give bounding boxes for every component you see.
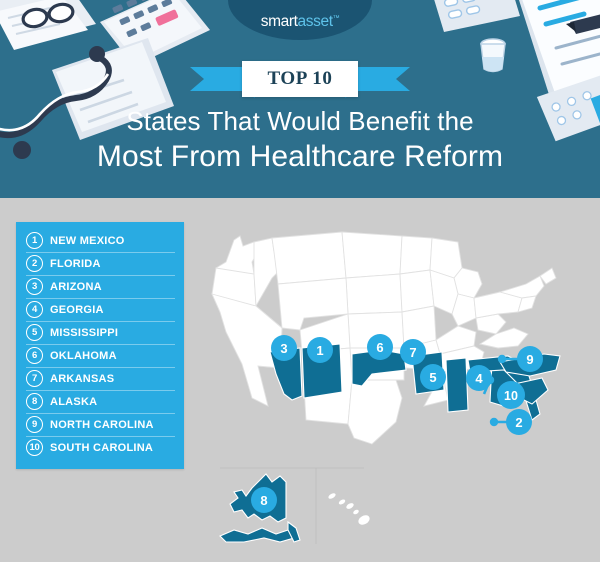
state-texas: [348, 380, 402, 444]
state-minnesota: [400, 236, 432, 274]
map-marker-4[interactable]: 4: [466, 365, 492, 391]
map-marker-label: 8: [260, 493, 267, 508]
rank-badge: 9: [26, 416, 43, 433]
state-north-dakota: [342, 232, 402, 278]
us-map-svg: 3 1 6 7 5: [196, 222, 592, 460]
top-10-ribbon: TOP 10: [190, 61, 410, 97]
map-marker-label: 6: [376, 340, 383, 355]
map-marker-label: 1: [316, 343, 323, 358]
rank-badge: 8: [26, 393, 43, 410]
map-marker-label: 9: [526, 352, 533, 367]
ranking-list: 1 NEW MEXICO 2 FLORIDA 3 ARIZONA 4 GEORG…: [16, 222, 184, 469]
list-item[interactable]: 4 GEORGIA: [16, 298, 184, 321]
header-banner: smartasset™ TOP 10 States That Would Ben…: [0, 0, 600, 198]
rank-badge: 5: [26, 324, 43, 341]
map-marker-label: 5: [429, 370, 436, 385]
trademark-icon: ™: [333, 15, 340, 22]
leader-dot-north-carolina: [498, 355, 506, 363]
state-south-dakota: [346, 274, 402, 314]
state-mississippi-highlight: [446, 358, 468, 412]
state-label: NORTH CAROLINA: [50, 419, 154, 431]
ribbon-plate: TOP 10: [242, 61, 358, 97]
map-marker-1[interactable]: 1: [307, 337, 333, 363]
logo-asset-text: asset: [298, 13, 333, 30]
map-marker-3[interactable]: 3: [271, 335, 297, 361]
map-marker-label: 10: [504, 389, 518, 403]
map-marker-5[interactable]: 5: [420, 364, 446, 390]
map-inset-alaska-hawaii: 8: [204, 452, 404, 552]
map-marker-9[interactable]: 9: [517, 346, 543, 372]
list-item[interactable]: 7 ARKANSAS: [16, 367, 184, 390]
us-map: 3 1 6 7 5: [196, 222, 592, 460]
logo-smart-text: smart: [261, 13, 298, 30]
infographic-page: smartasset™ TOP 10 States That Would Ben…: [0, 0, 600, 562]
map-marker-2[interactable]: 2: [506, 409, 532, 435]
title-line-1: States That Would Benefit the: [0, 105, 600, 138]
state-label: FLORIDA: [50, 258, 101, 270]
list-item[interactable]: 5 MISSISSIPPI: [16, 321, 184, 344]
state-label: ARKANSAS: [50, 373, 114, 385]
leader-dot-florida: [490, 418, 498, 426]
title-line-2: Most From Healthcare Reform: [0, 138, 600, 176]
rank-badge: 1: [26, 232, 43, 249]
state-label: MISSISSIPPI: [50, 327, 118, 339]
list-item[interactable]: 8 ALASKA: [16, 390, 184, 413]
state-label: GEORGIA: [50, 304, 104, 316]
state-label: NEW MEXICO: [50, 235, 125, 247]
state-hawaii: [327, 492, 371, 527]
map-marker-10[interactable]: 10: [497, 381, 525, 409]
rank-badge: 6: [26, 347, 43, 364]
inset-svg: 8: [204, 452, 404, 552]
state-label: ARIZONA: [50, 281, 102, 293]
rank-badge: 10: [26, 439, 43, 456]
state-label: ALASKA: [50, 396, 97, 408]
state-label: SOUTH CAROLINA: [50, 442, 153, 454]
map-marker-6[interactable]: 6: [367, 334, 393, 360]
rank-badge: 2: [26, 255, 43, 272]
rank-badge: 3: [26, 278, 43, 295]
page-title: States That Would Benefit the Most From …: [0, 105, 600, 176]
map-marker-label: 4: [475, 371, 483, 386]
medicine-cup-icon: [481, 39, 505, 72]
rank-badge: 7: [26, 370, 43, 387]
ribbon-label: TOP 10: [267, 68, 332, 90]
list-item[interactable]: 9 NORTH CAROLINA: [16, 413, 184, 436]
state-montana: [272, 232, 346, 284]
list-item[interactable]: 2 FLORIDA: [16, 252, 184, 275]
list-item[interactable]: 10 SOUTH CAROLINA: [16, 436, 184, 459]
list-item[interactable]: 6 OKLAHOMA: [16, 344, 184, 367]
map-marker-7[interactable]: 7: [400, 339, 426, 365]
rank-badge: 4: [26, 301, 43, 318]
map-marker-label: 2: [515, 415, 522, 430]
map-marker-8[interactable]: 8: [251, 487, 277, 513]
map-marker-label: 7: [409, 345, 416, 360]
state-iowa: [400, 270, 434, 312]
map-marker-label: 3: [280, 341, 287, 356]
list-item[interactable]: 1 NEW MEXICO: [16, 229, 184, 252]
list-item[interactable]: 3 ARIZONA: [16, 275, 184, 298]
state-label: OKLAHOMA: [50, 350, 117, 362]
